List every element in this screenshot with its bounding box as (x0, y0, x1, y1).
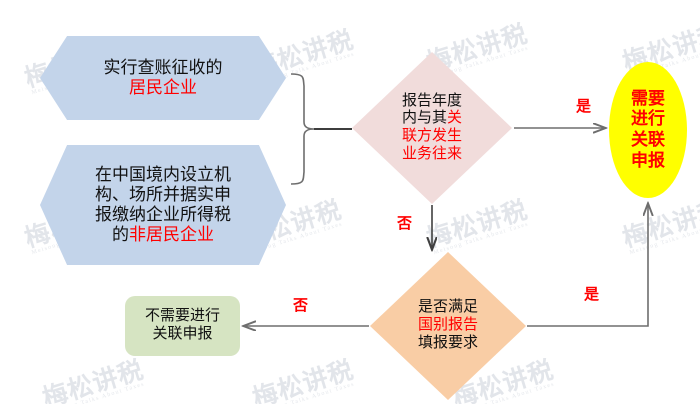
node-nonresident-enterprise-label: 在中国境内设立机构、场所并据实申报缴纳企业所得税的非居民企业 (95, 165, 231, 245)
related-line2-highlight: 关 (447, 110, 462, 126)
terminal-no-declaration[interactable]: 不需要进行关联申报 (125, 296, 240, 356)
need-line2: 进行 (631, 109, 665, 128)
nonresident-line3: 报缴纳企业所得税 (95, 205, 231, 224)
edge-label-no-bottom: 否 (293, 294, 308, 315)
decision-related-party-label: 报告年度内与其关联方发生业务往来 (402, 93, 462, 164)
nonresident-line4-highlight: 非居民企业 (129, 225, 214, 244)
related-line1: 报告年度 (402, 93, 462, 109)
edge-cbcr-yes (527, 204, 648, 326)
brace-connector (291, 74, 314, 184)
edge-label-yes-bottom: 是 (584, 283, 599, 304)
resident-line1: 实行查账征收的 (104, 58, 223, 77)
terminal-no-declaration-label: 不需要进行关联申报 (145, 308, 220, 343)
decision-related-party-transactions[interactable]: 报告年度内与其关联方发生业务往来 (352, 52, 512, 204)
edge-label-yes-top: 是 (576, 95, 591, 116)
watermark: 梅松讲税Meisong Talks About Taxes (250, 358, 358, 404)
related-line2-prefix: 内与其 (402, 110, 447, 126)
cbcr-line1: 是否满足 (418, 299, 478, 315)
resident-line2: 居民企业 (129, 78, 197, 97)
need-line4: 申报 (631, 151, 665, 170)
node-nonresident-enterprise[interactable]: 在中国境内设立机构、场所并据实申报缴纳企业所得税的非居民企业 (40, 145, 286, 265)
need-line1: 需要 (631, 89, 665, 108)
notneed-line2: 关联申报 (152, 326, 212, 342)
need-line3: 关联 (631, 130, 665, 149)
node-resident-enterprise[interactable]: 实行查账征收的居民企业 (40, 36, 286, 120)
decision-cbcr-label: 是否满足国别报告填报要求 (418, 299, 478, 352)
terminal-need-declaration[interactable]: 需要进行关联申报 (609, 62, 687, 198)
nonresident-line1: 在中国境内设立机 (95, 165, 231, 184)
decision-country-by-country-report[interactable]: 是否满足国别报告填报要求 (370, 252, 526, 400)
related-line3: 联方发生 (402, 128, 462, 144)
watermark: 梅松讲税Meisong Talks About Taxes (40, 358, 148, 404)
nonresident-line2: 构、场所并据实申 (95, 185, 231, 204)
terminal-need-label: 需要进行关联申报 (631, 89, 665, 172)
edge-label-no-mid: 否 (397, 212, 412, 233)
cbcr-line3: 填报要求 (418, 335, 478, 351)
cbcr-line2: 国别报告 (418, 317, 478, 333)
notneed-line1: 不需要进行 (145, 308, 220, 324)
flowchart-canvas: 梅松讲税Meisong Talks About Taxes 梅松讲税Meison… (0, 0, 700, 404)
node-resident-enterprise-label: 实行查账征收的居民企业 (104, 58, 223, 98)
watermark: 梅松讲税Meisong Talks About Taxes (620, 198, 700, 258)
watermark: 梅松讲税Meisong Talks About Taxes (424, 198, 532, 258)
related-line4: 业务往来 (402, 146, 462, 162)
nonresident-line4-prefix: 的 (112, 225, 129, 244)
